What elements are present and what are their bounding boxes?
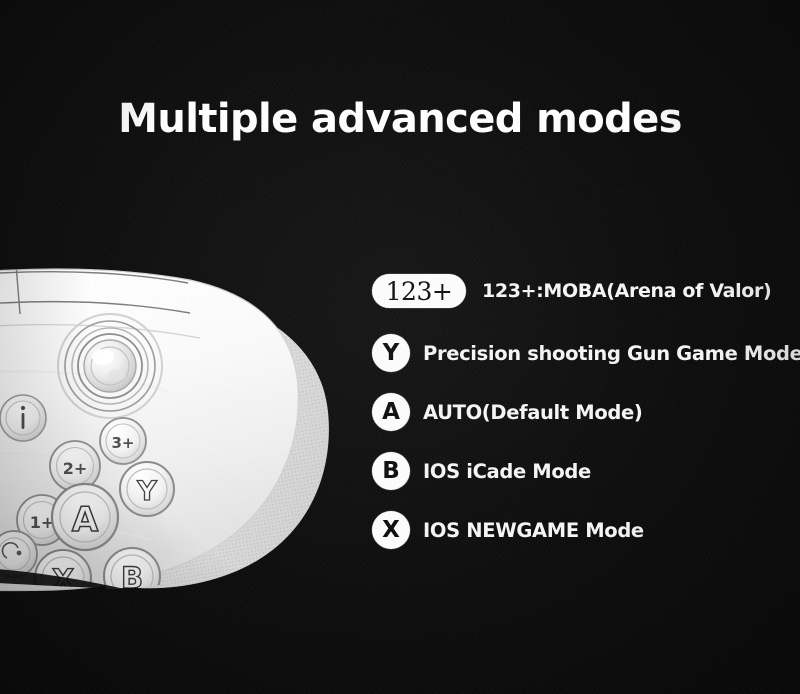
mode-label-b: IOS iCade Mode bbox=[423, 460, 591, 483]
mode-label-x: IOS NEWGAME Mode bbox=[423, 519, 644, 542]
info-button bbox=[0, 395, 46, 441]
mode-badge-y: Y bbox=[372, 334, 410, 372]
mode-list-item-123[interactable]: 123+ 123+:MOBA(Arena of Valor) bbox=[372, 272, 792, 310]
mode-label-a: AUTO(Default Mode) bbox=[423, 401, 642, 424]
gamepad-illustration: MOCUTE ® Discovery&Innovation bbox=[0, 258, 390, 603]
mode-button-3: 3+ bbox=[100, 418, 146, 464]
mode-button-3-label: 3+ bbox=[111, 434, 134, 452]
mode-badge-x: X bbox=[372, 511, 410, 549]
mode-list-item-b[interactable]: B IOS iCade Mode bbox=[372, 452, 792, 490]
mode-list: 123+ 123+:MOBA(Arena of Valor) Y Precisi… bbox=[372, 272, 792, 570]
mode-badge-123: 123+ bbox=[372, 274, 466, 308]
face-button-b-label: B bbox=[121, 561, 143, 595]
mode-list-item-x[interactable]: X IOS NEWGAME Mode bbox=[372, 511, 792, 549]
mode-label-y: Precision shooting Gun Game Mode bbox=[423, 342, 800, 365]
mode-badge-a: A bbox=[372, 393, 410, 431]
mode-list-item-a[interactable]: A AUTO(Default Mode) bbox=[372, 393, 792, 431]
product-feature-image: MOCUTE ® Discovery&Innovation bbox=[0, 0, 800, 694]
face-button-b: B bbox=[104, 548, 160, 603]
face-button-y-label: Y bbox=[136, 476, 157, 507]
mode-label-123: 123+:MOBA(Arena of Valor) bbox=[482, 280, 771, 302]
mode-badge-b: B bbox=[372, 452, 410, 490]
mode-list-item-y[interactable]: Y Precision shooting Gun Game Mode bbox=[372, 334, 792, 372]
face-button-y: Y bbox=[120, 462, 174, 516]
mode-button-1-label: 1+ bbox=[30, 513, 55, 532]
face-button-a-label: A bbox=[72, 500, 99, 540]
mode-button-2-label: 2+ bbox=[63, 459, 88, 478]
mode-button-2: 2+ bbox=[50, 441, 100, 491]
face-button-a: A bbox=[52, 484, 118, 550]
page-title: Multiple advanced modes bbox=[0, 96, 800, 142]
